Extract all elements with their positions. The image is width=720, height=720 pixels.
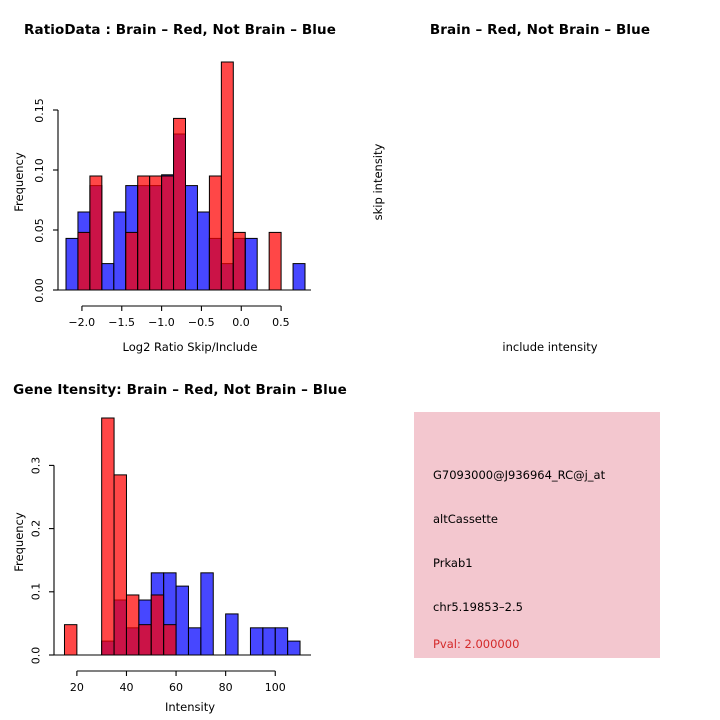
xtick-label: −1.0 (148, 316, 175, 329)
xtick-label: −1.5 (108, 316, 135, 329)
xtick-label: −0.5 (188, 316, 215, 329)
info-panel: G7093000@J936964_RC@j_at altCassette Prk… (360, 360, 720, 720)
ytick-label: 0.05 (33, 218, 46, 243)
xtick-label: 40 (119, 681, 133, 694)
locus-text: chr5.19853–2.5 (433, 600, 523, 614)
ratio-histogram-panel: RatioData : Brain – Red, Not Brain – Blu… (0, 0, 360, 360)
info-panel-background (414, 412, 660, 658)
gene-intensity-plot (0, 360, 360, 720)
gene-symbol-text: Prkab1 (433, 556, 473, 570)
xtick-label: 100 (265, 681, 286, 694)
xtick-label: 0.0 (232, 316, 250, 329)
gene-intensity-histogram-panel: Gene Itensity: Brain – Red, Not Brain – … (0, 360, 360, 720)
probe-id-text: G7093000@J936964_RC@j_at (433, 468, 605, 482)
event-type-text: altCassette (433, 512, 498, 526)
ytick-label: 0.00 (33, 278, 46, 303)
ytick-label: 0.3 (29, 457, 42, 475)
ytick-label: 0.10 (33, 158, 46, 183)
xtick-label: 60 (169, 681, 183, 694)
ytick-label: 0.1 (29, 583, 42, 601)
xtick-label: −2.0 (68, 316, 95, 329)
pval-text: Pval: 2.000000 (433, 637, 519, 651)
xtick-label: 0.5 (272, 316, 290, 329)
ytick-label: 0.15 (33, 98, 46, 123)
ytick-label: 0.0 (29, 646, 42, 664)
ytick-label: 0.2 (29, 520, 42, 538)
ratio-histogram-plot (0, 0, 360, 360)
xtick-label: 80 (219, 681, 233, 694)
intensity-scatter-panel: Brain – Red, Not Brain – Blue skip inten… (360, 0, 720, 360)
xtick-label: 20 (70, 681, 84, 694)
intensity-scatter-plot (360, 0, 720, 360)
